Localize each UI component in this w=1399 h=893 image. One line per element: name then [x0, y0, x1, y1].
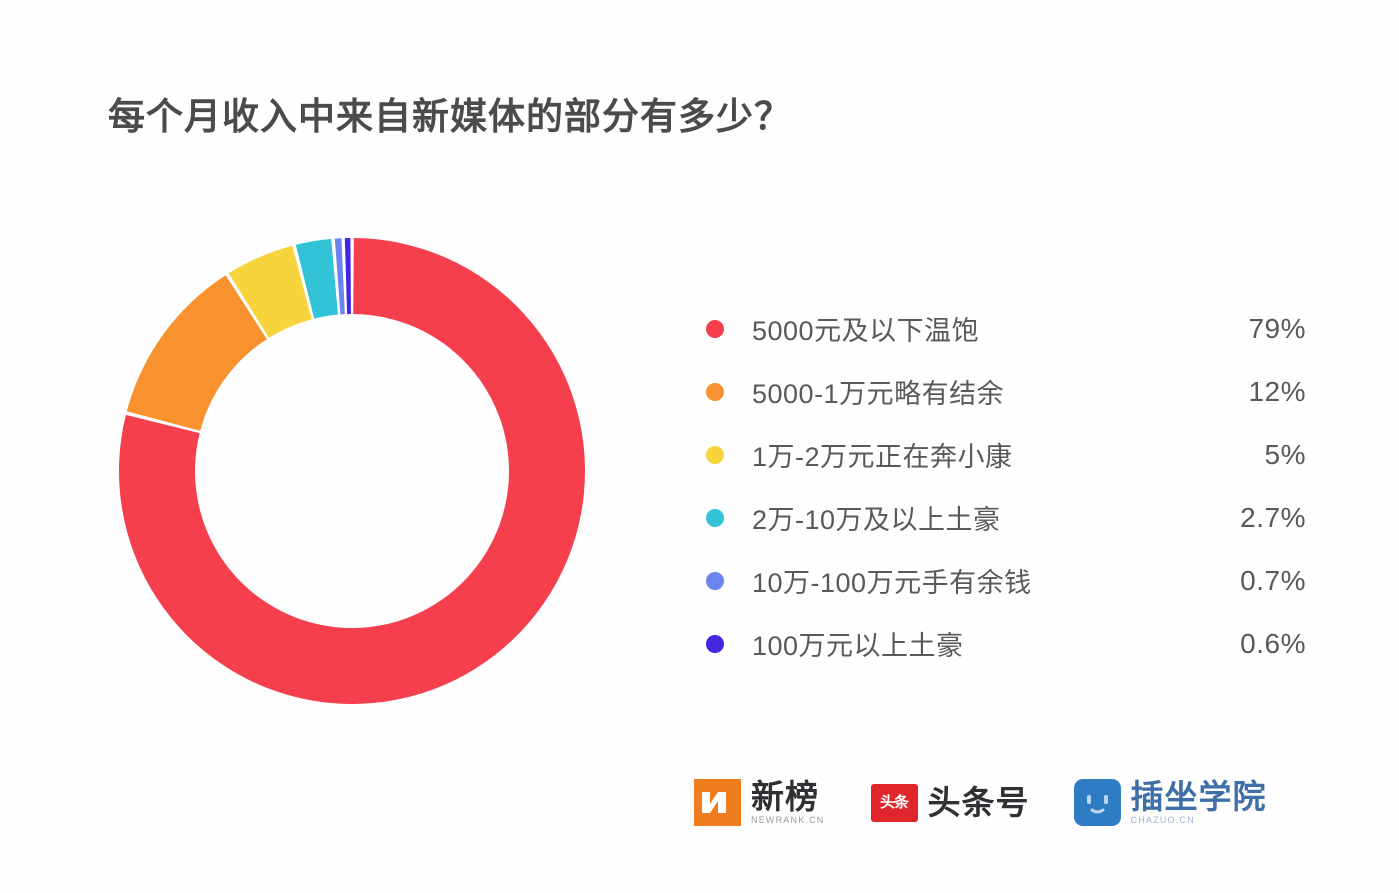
legend-row[interactable]: 10万-100万元手有余钱 0.7% [706, 549, 1306, 612]
legend-value: 0.7% [1186, 565, 1306, 597]
legend-color-swatch-icon [706, 320, 724, 338]
legend-color-swatch-icon [706, 635, 724, 653]
legend-label: 1万-2万元正在奔小康 [752, 435, 1186, 474]
legend-value: 0.6% [1186, 628, 1306, 660]
toutiaohao-text-block: 头条号 [928, 786, 1030, 820]
page-title: 每个月收入中来自新媒体的部分有多少？ [108, 86, 792, 140]
chart-legend: 5000元及以下温饱 79% 5000-1万元略有结余 12% 1万-2万元正在… [706, 297, 1306, 675]
legend-label: 5000-1万元略有结余 [752, 372, 1186, 411]
legend-row[interactable]: 2万-10万及以上土豪 2.7% [706, 486, 1306, 549]
legend-label: 2万-10万及以上土豪 [752, 498, 1186, 537]
donut-chart [119, 238, 585, 704]
logo-toutiaohao[interactable]: 头条 头条号 [871, 784, 1030, 822]
legend-value: 5% [1186, 439, 1306, 471]
legend-row[interactable]: 1万-2万元正在奔小康 5% [706, 423, 1306, 486]
chazuo-face-glyph-icon [1074, 779, 1121, 826]
logo-chazuo[interactable]: 插坐学院 CHAZUO.CN [1074, 779, 1267, 826]
legend-row[interactable]: 5000-1万元略有结余 12% [706, 360, 1306, 423]
newrank-text-block: 新榜 NEWRANK.CN [751, 780, 825, 826]
footer-logos: 新榜 NEWRANK.CN 头条 头条号 插坐学院 CHAZUO.CN [694, 779, 1267, 826]
legend-label: 5000元及以下温饱 [752, 309, 1186, 348]
legend-label: 10万-100万元手有余钱 [752, 561, 1186, 600]
donut-slice[interactable] [345, 238, 351, 314]
slide-canvas: 每个月收入中来自新媒体的部分有多少？ 5000元及以下温饱 79% 5000-1… [0, 0, 1399, 893]
legend-row[interactable]: 5000元及以下温饱 79% [706, 297, 1306, 360]
chazuo-mark-icon [1074, 779, 1121, 826]
legend-value: 2.7% [1186, 502, 1306, 534]
legend-color-swatch-icon [706, 572, 724, 590]
legend-color-swatch-icon [706, 509, 724, 527]
legend-label: 100万元以上土豪 [752, 624, 1186, 663]
legend-value: 12% [1186, 376, 1306, 408]
toutiao-badge-icon: 头条 [871, 784, 918, 822]
legend-row[interactable]: 100万元以上土豪 0.6% [706, 612, 1306, 675]
legend-value: 79% [1186, 313, 1306, 345]
toutiaohao-name-cn: 头条号 [928, 786, 1030, 820]
chazuo-text-block: 插坐学院 CHAZUO.CN [1131, 780, 1267, 826]
chazuo-name-en: CHAZUO.CN [1131, 815, 1267, 825]
legend-color-swatch-icon [706, 446, 724, 464]
donut-chart-svg [119, 238, 585, 704]
chazuo-name-cn: 插坐学院 [1131, 780, 1267, 814]
newrank-mark-icon [694, 779, 741, 826]
donut-slice-group [119, 238, 585, 704]
logo-newrank[interactable]: 新榜 NEWRANK.CN [694, 779, 825, 826]
legend-color-swatch-icon [706, 383, 724, 401]
newrank-name-en: NEWRANK.CN [751, 815, 825, 825]
newrank-name-cn: 新榜 [751, 780, 825, 814]
newrank-n-glyph-icon [694, 779, 741, 826]
